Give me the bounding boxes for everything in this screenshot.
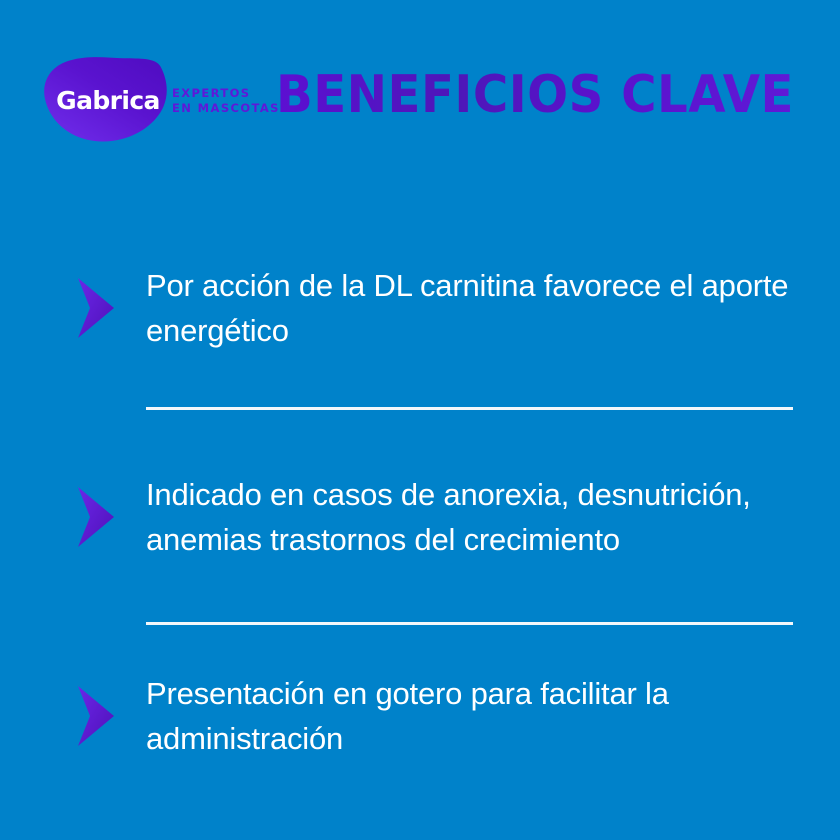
- chevron-right-arrow-icon: [76, 684, 140, 748]
- list-item-text: Indicado en casos de anorexia, desnutric…: [146, 472, 840, 562]
- chevron-right-arrow-icon: [76, 276, 140, 340]
- gabrica-blob-logo: [42, 57, 170, 143]
- divider: [146, 622, 793, 625]
- page-title: BENEFICIOS CLAVE: [276, 68, 796, 120]
- divider: [146, 407, 793, 410]
- poster-header: Gabrica EXPERTOS EN MASCOTAS BENEFICIOS …: [0, 0, 840, 170]
- benefits-poster: Gabrica EXPERTOS EN MASCOTAS BENEFICIOS …: [0, 0, 840, 840]
- benefits-list: Por acción de la DL carnitina favorece e…: [0, 170, 840, 840]
- list-item: Por acción de la DL carnitina favorece e…: [0, 252, 840, 364]
- list-item: Presentación en gotero para facilitar la…: [0, 660, 840, 772]
- page-title-text: BENEFICIOS CLAVE: [276, 68, 794, 120]
- gabrica-logo: Gabrica: [42, 57, 170, 143]
- list-item-text: Presentación en gotero para facilitar la…: [146, 671, 840, 761]
- chevron-right-arrow-icon: [76, 485, 140, 549]
- list-item: Indicado en casos de anorexia, desnutric…: [0, 438, 840, 596]
- list-item-text: Por acción de la DL carnitina favorece e…: [146, 263, 840, 353]
- brand-tagline: EXPERTOS EN MASCOTAS: [172, 86, 280, 116]
